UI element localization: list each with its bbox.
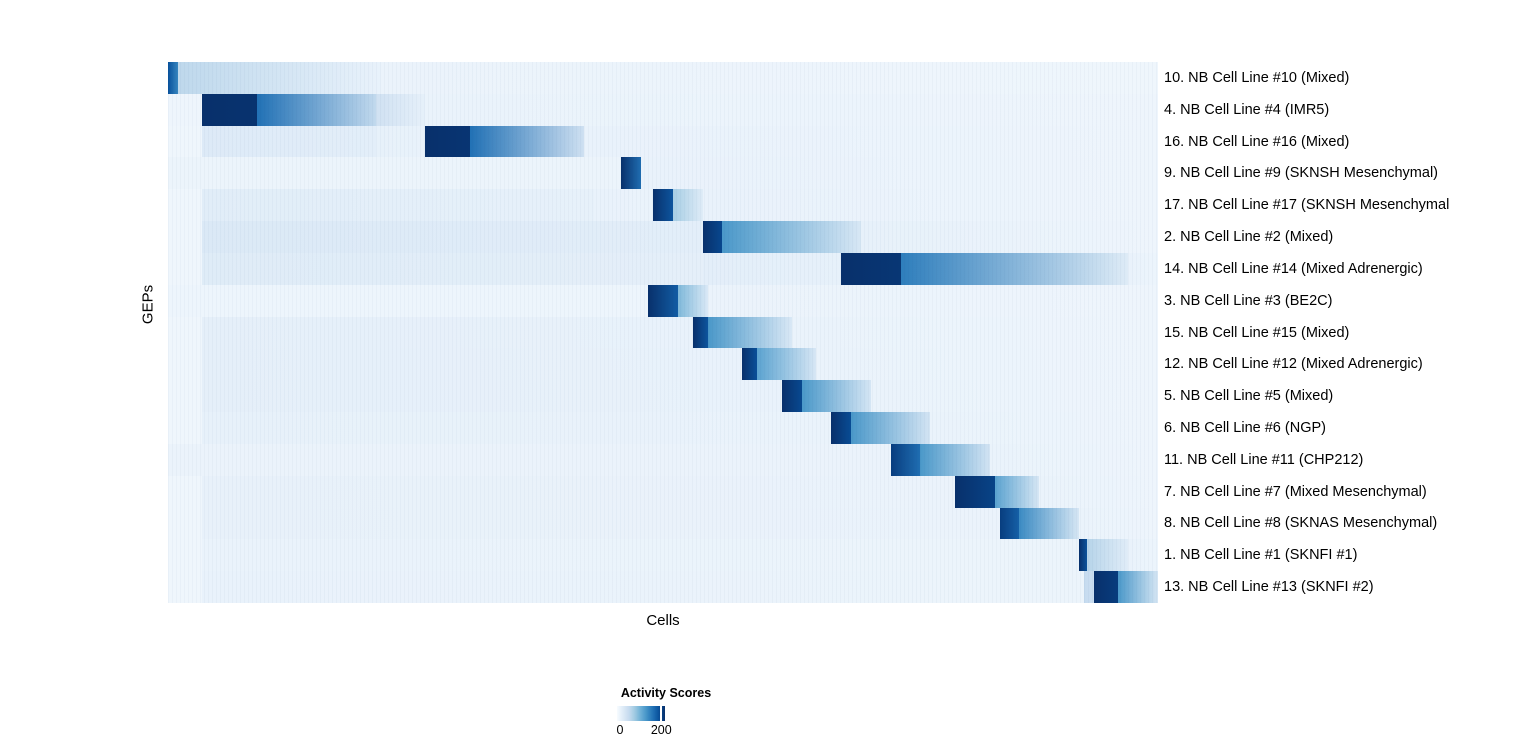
- heatmap-plot-area[interactable]: [168, 62, 1158, 603]
- heatmap-cell-striations: [168, 317, 1158, 349]
- row-label: 4. NB Cell Line #4 (IMR5): [1164, 103, 1329, 118]
- row-label: 8. NB Cell Line #8 (SKNAS Mesenchymal): [1164, 516, 1437, 531]
- heatmap-cell-striations: [168, 508, 1158, 540]
- heatmap-cell-striations: [168, 348, 1158, 380]
- y-axis-label: GEPs: [140, 275, 157, 335]
- colorbar-tick-label: 0: [617, 723, 624, 737]
- heatmap-cell-striations: [168, 380, 1158, 412]
- heatmap-row: [168, 412, 1158, 444]
- heatmap-cell-striations: [168, 126, 1158, 158]
- heatmap-row: [168, 444, 1158, 476]
- heatmap-cell-striations: [168, 571, 1158, 603]
- row-label: 5. NB Cell Line #5 (Mixed): [1164, 389, 1333, 404]
- heatmap-cell-striations: [168, 285, 1158, 317]
- row-label: 14. NB Cell Line #14 (Mixed Adrenergic): [1164, 262, 1423, 277]
- row-label: 16. NB Cell Line #16 (Mixed): [1164, 135, 1349, 150]
- heatmap-cell-striations: [168, 62, 1158, 94]
- colorbar-legend: Activity Scores 0200: [560, 686, 800, 742]
- row-label: 12. NB Cell Line #12 (Mixed Adrenergic): [1164, 357, 1423, 372]
- heatmap-cell-striations: [168, 539, 1158, 571]
- heatmap-row: [168, 221, 1158, 253]
- heatmap-row: [168, 253, 1158, 285]
- heatmap-cell-striations: [168, 476, 1158, 508]
- row-label: 10. NB Cell Line #10 (Mixed): [1164, 71, 1349, 86]
- row-label: 17. NB Cell Line #17 (SKNSH Mesenchymal: [1164, 198, 1449, 213]
- colorbar-tick-label: 200: [651, 723, 672, 737]
- heatmap-cell-striations: [168, 157, 1158, 189]
- heatmap-cell-striations: [168, 444, 1158, 476]
- row-label: 9. NB Cell Line #9 (SKNSH Mesenchymal): [1164, 166, 1438, 181]
- heatmap-row: [168, 126, 1158, 158]
- row-label: 13. NB Cell Line #13 (SKNFI #2): [1164, 580, 1374, 595]
- heatmap-row: [168, 62, 1158, 94]
- heatmap-cell-striations: [168, 253, 1158, 285]
- heatmap-cell-striations: [168, 94, 1158, 126]
- heatmap-row: [168, 94, 1158, 126]
- heatmap-row: [168, 317, 1158, 349]
- row-label: 2. NB Cell Line #2 (Mixed): [1164, 230, 1333, 245]
- row-label: 11. NB Cell Line #11 (CHP212): [1164, 453, 1363, 468]
- colorbar-gradient: [617, 706, 665, 721]
- heatmap-row: [168, 508, 1158, 540]
- row-label: 7. NB Cell Line #7 (Mixed Mesenchymal): [1164, 485, 1427, 500]
- heatmap-cell-striations: [168, 221, 1158, 253]
- heatmap-cell-striations: [168, 189, 1158, 221]
- heatmap-row: [168, 539, 1158, 571]
- heatmap-row: [168, 571, 1158, 603]
- heatmap-row: [168, 380, 1158, 412]
- heatmap-row: [168, 189, 1158, 221]
- row-label: 1. NB Cell Line #1 (SKNFI #1): [1164, 548, 1357, 563]
- row-label: 15. NB Cell Line #15 (Mixed): [1164, 326, 1349, 341]
- row-label: 3. NB Cell Line #3 (BE2C): [1164, 294, 1332, 309]
- colorbar-title: Activity Scores: [560, 686, 772, 700]
- heatmap-row: [168, 476, 1158, 508]
- heatmap-row: [168, 157, 1158, 189]
- heatmap-row: [168, 348, 1158, 380]
- heatmap-row-labels: 10. NB Cell Line #10 (Mixed)4. NB Cell L…: [1164, 62, 1534, 603]
- heatmap-row: [168, 285, 1158, 317]
- x-axis-label: Cells: [168, 612, 1158, 629]
- colorbar-tick-mark: [660, 706, 662, 721]
- row-label: 6. NB Cell Line #6 (NGP): [1164, 421, 1326, 436]
- heatmap-cell-striations: [168, 412, 1158, 444]
- heatmap-figure: GEPs Cells 10. NB Cell Line #10 (Mixed)4…: [0, 0, 1540, 743]
